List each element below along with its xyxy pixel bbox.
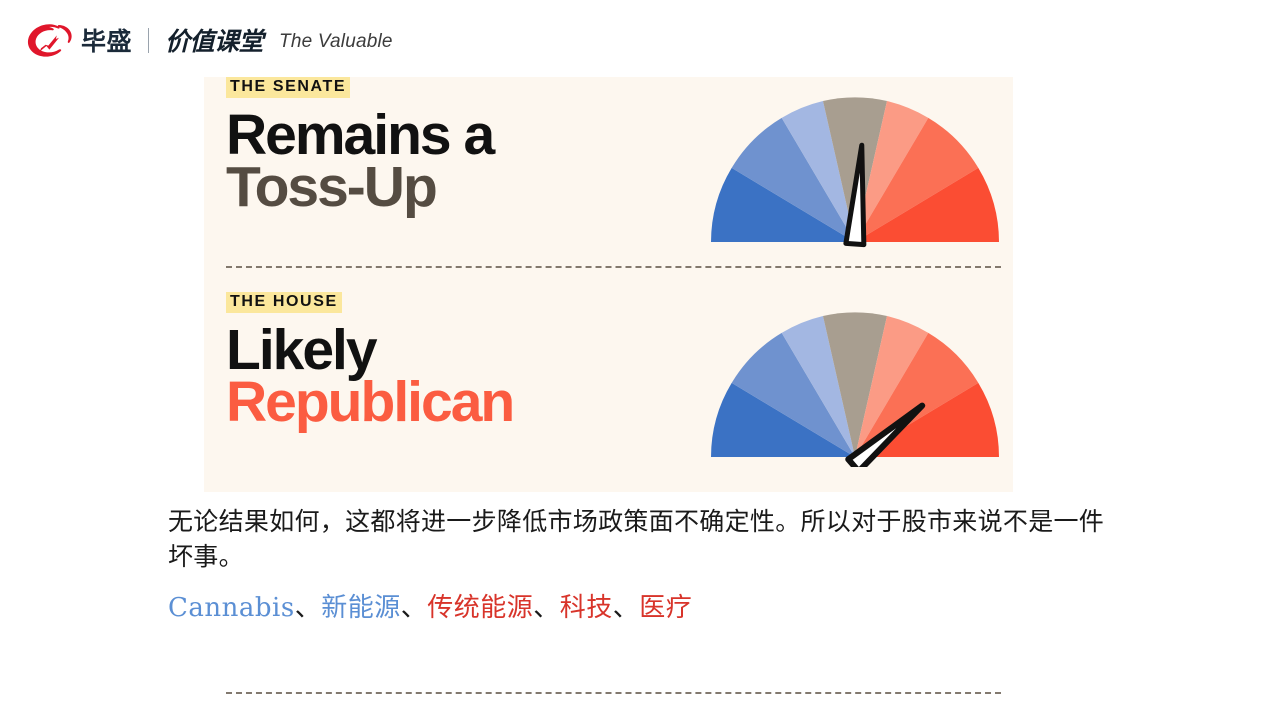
brand-name-cn: 毕盛 <box>81 29 132 54</box>
tag-separator: 、 <box>533 593 560 623</box>
house-text-block: THE HOUSE Likely Republican <box>226 292 513 431</box>
sector-tag-new-energy: 新能源 <box>321 593 401 623</box>
sector-tag-technology: 科技 <box>560 593 613 623</box>
brand-divider <box>148 28 149 53</box>
panel-divider-house <box>226 692 1001 694</box>
brand-name-en: The Valuable <box>279 31 393 53</box>
brand-bar: 毕盛 价值课堂 The Valuable <box>26 20 393 60</box>
sector-tag-line: Cannabis、新能源、传统能源、科技、医疗 <box>168 592 692 626</box>
house-eyebrow: THE HOUSE <box>226 292 342 313</box>
house-gauge-segments <box>711 312 999 457</box>
sector-tag-healthcare: 医疗 <box>639 593 692 623</box>
house-gauge <box>705 302 1005 467</box>
senate-text-block: THE SENATE Remains a Toss-Up <box>226 77 493 216</box>
house-gauge-svg <box>705 302 1005 467</box>
house-headline-line2: Republican <box>226 375 513 431</box>
flame-swoosh-logo-icon <box>26 23 72 57</box>
tag-separator: 、 <box>401 593 428 623</box>
brand-course-cn: 价值课堂 <box>165 29 263 54</box>
sector-tag-cannabis: Cannabis <box>168 593 295 623</box>
senate-eyebrow: THE SENATE <box>226 77 350 98</box>
forecast-card: THE SENATE Remains a Toss-Up <box>204 77 1013 492</box>
tag-separator: 、 <box>295 593 322 623</box>
senate-headline-line2: Toss-Up <box>226 160 493 216</box>
panel-senate: THE SENATE Remains a Toss-Up <box>204 77 1013 266</box>
panel-house: THE HOUSE Likely Republican <box>204 292 1013 481</box>
senate-gauge <box>705 87 1005 252</box>
panel-divider-senate <box>226 266 1001 268</box>
tag-separator: 、 <box>613 593 640 623</box>
sector-tag-traditional-energy: 传统能源 <box>427 593 533 623</box>
body-paragraph: 无论结果如何，这都将进一步降低市场政策面不确定性。所以对于股市来说不是一件坏事。 <box>168 505 1108 574</box>
senate-gauge-svg <box>705 87 1005 252</box>
